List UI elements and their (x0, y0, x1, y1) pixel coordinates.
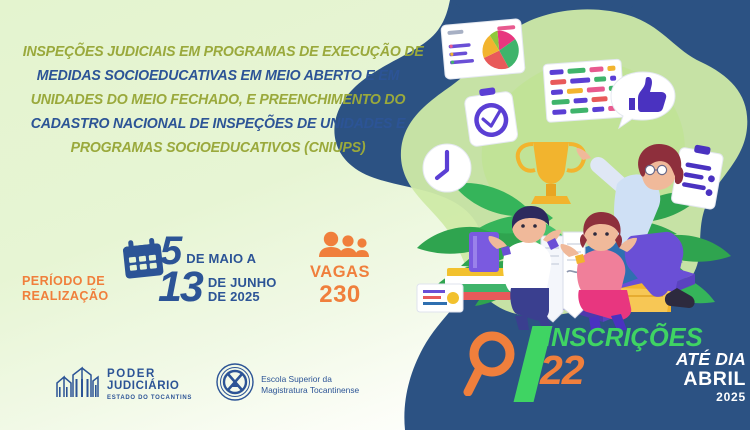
headline-line-5: PROGRAMAS SOCIOEDUCATIVOS (CNIUPS) (23, 136, 414, 160)
people-group-icon (309, 231, 371, 257)
end-day-text-line-2: DE 2025 (208, 290, 277, 304)
judiciary-line-3: ESTADO DO TOCANTINS (107, 395, 192, 401)
period-label-line-1: PERÍODO DE (22, 274, 105, 288)
page-title: INSPEÇÕES JUDICIAIS EM PROGRAMAS DE EXEC… (23, 40, 414, 160)
logo-row: PODER JUDICIÁRIO ESTADO DO TOCANTINS Esc… (55, 363, 359, 406)
date-row-end: 13 DE JUNHO DE 2025 (160, 269, 310, 307)
vacancies-block: VAGAS 230 (300, 263, 380, 308)
headline-line-3: UNIDADES DO MEIO FECHADO, E PREENCHIMENT… (23, 88, 414, 112)
headline-line-1: INSPEÇÕES JUDICIAIS EM PROGRAMAS DE EXEC… (23, 40, 414, 64)
esmat-seal-icon (216, 363, 254, 406)
judiciary-logo-text: PODER JUDICIÁRIO ESTADO DO TOCANTINS (107, 369, 192, 401)
judiciary-logo: PODER JUDICIÁRIO ESTADO DO TOCANTINS (55, 366, 192, 403)
courthouse-building-icon (55, 366, 100, 403)
esmat-logo-text: Escola Superior da Magistratura Tocantin… (261, 374, 359, 396)
headline-line-2: MEDIDAS SOCIOEDUCATIVAS EM MEIO ABERTO E… (23, 64, 414, 88)
end-day-text: DE JUNHO DE 2025 (208, 276, 277, 307)
judiciary-line-1: PODER (107, 369, 192, 381)
esmat-line-1: Escola Superior da (261, 374, 359, 385)
registration-until-label: ATÉ DIA (624, 350, 746, 369)
vacancies-label: VAGAS (300, 263, 380, 282)
poster-canvas: INSPEÇÕES JUDICIAIS EM PROGRAMAS DE EXEC… (0, 0, 750, 430)
esmat-line-2: Magistratura Tocantinense (261, 385, 359, 396)
period-label: PERÍODO DE REALIZAÇÃO (22, 274, 127, 304)
judiciary-line-2: JUDICIÁRIO (107, 381, 192, 393)
registration-month: ABRIL (624, 369, 746, 390)
magnifying-glass-icon (460, 330, 522, 396)
date-range: 5 DE MAIO A 13 DE JUNHO DE 2025 (160, 232, 310, 307)
registration-year: 2025 (624, 390, 746, 405)
end-day-text-line-1: DE JUNHO (208, 275, 277, 290)
period-label-line-2: REALIZAÇÃO (22, 289, 109, 303)
registration-deadline: ATÉ DIA ABRIL 2025 (624, 350, 746, 405)
registration-badge: INSCRIÇÕES 22 ATÉ DIA ABRIL 2025 (460, 322, 750, 422)
vacancies-count: 230 (300, 282, 380, 308)
illustration-group (395, 0, 750, 330)
esmat-logo: Escola Superior da Magistratura Tocantin… (216, 363, 359, 406)
end-day: 13 (158, 268, 202, 307)
headline-line-4: CADASTRO NACIONAL DE INSPEÇÕES DE UNIDAD… (23, 112, 414, 136)
registration-day: 22 (540, 348, 584, 392)
